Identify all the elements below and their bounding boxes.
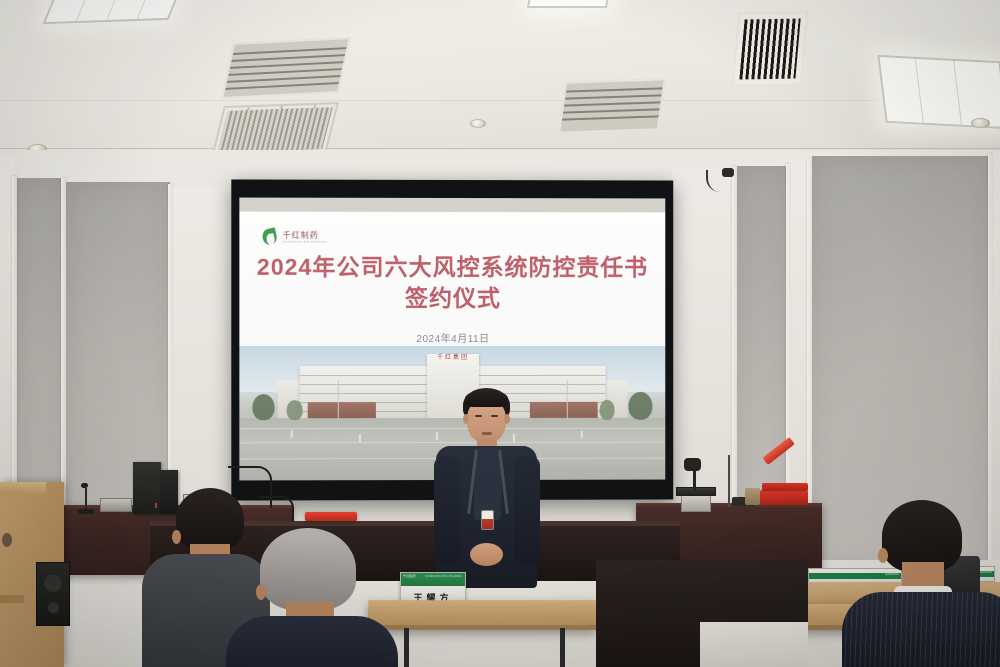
nameplate-brand-en: QIANHONG BIO-PHARMA <box>425 575 462 578</box>
audience-ear <box>256 584 266 600</box>
tree <box>252 394 274 420</box>
red-folder-stack-2 <box>762 483 808 491</box>
company-logo: 千红制药 QIANHONG BIO-PHARMA <box>261 228 326 247</box>
light-pole <box>338 380 339 420</box>
slide-title: 2024年公司六大风控系统防控责任书 签约仪式 <box>239 252 665 314</box>
front-table <box>368 600 597 630</box>
presenter-mouth <box>482 432 492 435</box>
table-leg <box>404 628 409 667</box>
microphone-base <box>78 509 94 514</box>
screen-top-band <box>239 198 665 213</box>
tree <box>600 400 615 420</box>
lectern-knob-icon <box>2 533 12 547</box>
document-camera-platform <box>676 487 716 496</box>
lectern-lower-shelf <box>0 595 24 603</box>
ceiling-light-panel <box>527 0 613 8</box>
presenter-arm-right <box>514 456 540 564</box>
id-badge <box>481 510 494 530</box>
ceiling-downlight <box>470 119 486 128</box>
ceiling-downlight <box>971 118 990 128</box>
floor-speaker <box>36 562 70 626</box>
red-folder-stack <box>760 490 808 505</box>
tree <box>286 400 302 420</box>
audience-jacket-dark <box>226 616 398 667</box>
air-diffuser <box>221 37 351 99</box>
document-camera-head <box>684 458 701 471</box>
audience-member-grey-hair <box>238 528 388 667</box>
leaf-droplet-icon <box>261 228 278 247</box>
ceiling-light-panel <box>43 0 192 24</box>
light-pole <box>567 380 568 420</box>
logo-subtitle: QIANHONG BIO-PHARMA <box>283 239 327 243</box>
logo-name: 千红制药 <box>283 231 327 239</box>
presenter-arm-left <box>434 456 460 564</box>
audience-hair <box>176 488 244 550</box>
cup-object <box>745 488 760 505</box>
av-amplifier <box>100 498 132 512</box>
building-sign: 千红集团 <box>239 352 665 361</box>
audience-pinstripe-jacket <box>842 592 1000 667</box>
presenter-ear <box>504 414 510 424</box>
building-podium-left <box>308 402 376 418</box>
conference-room-photo: 千红制药 QIANHONG BIO-PHARMA 2024年公司六大风控系统防控… <box>0 0 1000 667</box>
table-leg <box>560 628 565 667</box>
audience-neck <box>902 562 944 588</box>
air-diffuser <box>558 78 666 133</box>
nameplate-brand: 千红制药 <box>403 574 416 578</box>
audience-hair-grey <box>260 528 356 610</box>
red-notebook <box>305 512 357 521</box>
nameplate-band: 千红制药 QIANHONG BIO-PHARMA <box>401 573 465 586</box>
document-camera-base <box>681 494 711 512</box>
presenter-hands <box>470 543 503 566</box>
tree <box>629 392 653 420</box>
presenter-hair-top <box>465 390 508 407</box>
audience-ear <box>878 548 888 563</box>
mic-goose-pole <box>728 455 730 507</box>
front-light-band <box>700 622 808 667</box>
audience-member-right <box>856 500 1000 667</box>
air-diffuser <box>732 11 809 86</box>
presenter-ear <box>463 414 469 424</box>
slide-title-line1: 2024年公司六大风控系统防控责任书 <box>257 254 648 280</box>
lectern-top-shelf <box>0 482 46 494</box>
slide-title-line2: 签约仪式 <box>239 283 665 314</box>
audience-ear <box>172 530 181 544</box>
slide-date: 2024年4月11日 <box>239 330 665 345</box>
presenter-eye <box>491 415 498 417</box>
presenter <box>420 388 550 588</box>
presenter-eye <box>475 415 482 417</box>
microphone-head-icon <box>81 483 88 488</box>
